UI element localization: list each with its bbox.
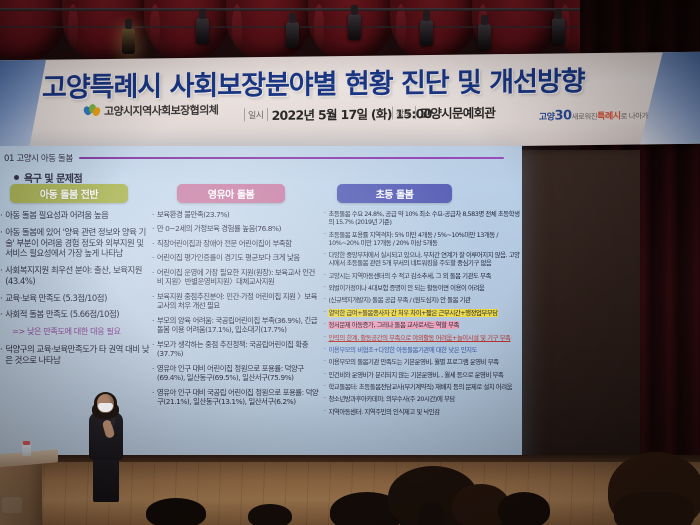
stage-light-icon [122, 28, 135, 54]
column-elementary-care: ·초등돌봄 수요 24.8%, 공급 약 10% 최소 수요-공급차 8,583… [324, 210, 520, 420]
list-item: ·어린이집 운영에 가장 필요한 지원(원장): 보육교사 인건비 지원〉반별운… [152, 268, 320, 287]
list-item: ·초등돌봄 포용률 지역격차: 5% 미만 4개동 / 5%~10%미만 13개… [324, 231, 520, 247]
list-item: ·정서문제 아동증가, 그러나 돌봄 교사로서는 역할 부족 [324, 321, 520, 329]
stage-light-icon [196, 18, 209, 44]
stage-light-icon [478, 24, 491, 50]
list-item: ·청소년방과후아카데미: 의무수사(주 20시간)에 부담 [324, 395, 520, 403]
list-item: ·지역아동센터: 지역주민의 인식제고 및 낙인감 [324, 408, 520, 416]
list-item: ·보육환경 불만족(23.7%) [152, 210, 320, 219]
list-item: ·외벌이가정이나 4대보험 증명이 안 되는 활동이면 이용이 어려움 [324, 284, 520, 292]
organization-name: 고양시지역사회보장협의체 [104, 102, 218, 119]
audience-head [498, 492, 550, 525]
list-item: ·이용부모의 비협조+다양한 아동돌봄기관에 대한 낮은 인지도 [324, 346, 520, 354]
audience-head [146, 498, 206, 525]
slide-section-title: 욕구 및 문제점 [14, 170, 82, 185]
banner-title: 고양특례시 사회보장분야별 현황 진단 및 개선방향 [42, 58, 662, 105]
list-item: ·만 0~2세의 가정보육 경험률 높음(76.8%) [152, 224, 320, 233]
city-logo-number: 30 [554, 108, 571, 123]
list-item: ·이용부모의 돌봄기관 만족도는 기본운영비, 월별 프로그램 운영비 부족 [324, 358, 520, 366]
presentation-photo-scene: 고양특례시 사회보장분야별 현황 진단 및 개선방향 고양시지역사회보장협의체 … [0, 0, 700, 525]
column-header-overall: 아동 돌봄 전반 [10, 184, 128, 203]
list-item: ·열악한 급여+돌봄종사자 간 처우 차이+짧은 근무시간+행정업무부담 [324, 309, 520, 317]
section-label: 욕구 및 문제점 [24, 170, 82, 185]
list-item: ·영유아 인구 대비 국공립 어린이집 정원으로 포용률: 덕양구(21.1%)… [152, 388, 320, 407]
city-logo-main: 고양 [539, 113, 555, 123]
audience-head [248, 504, 292, 525]
list-item: ·사회복지지원 최우선 분야: 출산, 보육지원 (43.4%) [0, 265, 150, 287]
podium-emblem [2, 497, 22, 513]
list-item: ·고양시는 지역아동센터의 수 적고 감소추세, 그 외 돌봄 기관도 부족 [324, 272, 520, 280]
presenter-legs [93, 456, 119, 502]
column-header-infant: 영유아 돌봄 [177, 184, 285, 203]
list-item: ·다양한 중앙부처에서 실시되고 있으나, 부처간 연계가 잘 이루어지지 않음… [324, 251, 520, 267]
list-item: ·덕양구의 교육·보육만족도가 타 권역 대비 낮은 것으로 나타남 [0, 344, 150, 366]
column-overall-care: ·아동 돌봄 필요성과 어려움 높음 ·아동 돌봄에 있어 '양육 관련 정보와… [0, 210, 150, 372]
podium-body [0, 463, 42, 525]
list-item: ·보육지원 중점추진분야: 민간·가정 어린이집 지원 〉보육교사의 처우 개선… [152, 292, 320, 311]
list-item: ·부모가 생각하는 중점 추진정책: 국공립어린이집 확충(37.7%) [152, 340, 320, 359]
list-item: ·초등돌봄 수요 24.8%, 공급 약 10% 최소 수요-공급차 8,583… [324, 210, 520, 226]
list-item: ·인력의 한계, 활동공간의 부족으로 야외활동 어려움+놀이시설 및 기구 부… [324, 334, 520, 342]
stage-light-icon [552, 18, 565, 44]
podium [0, 452, 58, 525]
slide-kicker: 01 고양시 아동 돌봄 [4, 152, 73, 164]
banner-organization: 고양시지역사회보장협의체 [84, 102, 218, 120]
list-item: ·학교돌봄터: 초등돌봄전담교사(무기계약직) 재배치 등의 문제로 설치 어려… [324, 383, 520, 391]
projected-slide: 01 고양시 아동 돌봄 욕구 및 문제점 아동 돌봄 전반 영유아 돌봄 초등… [0, 146, 522, 470]
list-item: ·부모의 양육 어려움: 국공립어린이집 부족(36.9%), 긴급 돌봄 이용… [152, 316, 320, 335]
place-value: 고양시문예회관 [420, 102, 496, 122]
audience-head [608, 452, 700, 525]
slide-header-rule [79, 157, 504, 160]
list-item: ·직장어린이집과 장애아 전문 어린이집이 부족함 [152, 239, 320, 248]
banner-decoration-left [0, 60, 46, 153]
column-overall-note: => 낮은 만족도에 대한 대응 필요 [12, 325, 150, 337]
stage-light-icon [420, 20, 433, 46]
list-item: ·어린이집 평가인증률이 경기도 평균보다 크게 낮음 [152, 253, 320, 262]
event-banner: 고양특례시 사회보장분야별 현황 진단 및 개선방향 고양시지역사회보장협의체 … [0, 52, 700, 153]
wall-panel-outer [520, 150, 640, 480]
list-item: ·영유아 인구 대비 어린이집 정원으로 포용률: 덕양구(69.4%), 일산… [152, 364, 320, 383]
organization-logo-icon [84, 104, 99, 118]
city-logo-accent: 특례시 [597, 112, 620, 122]
slide-header: 01 고양시 아동 돌봄 [4, 152, 504, 164]
list-item: ·(신규택지개발지) 돌봄 공급 부족 / (원도심지) 안 돌봄 기관 [324, 296, 520, 304]
column-header-elementary: 초등 돌봄 [337, 184, 452, 203]
city-logo-small: 새로워진 [572, 112, 598, 121]
place-label: 장소 [392, 106, 416, 119]
city-brand-logo: 고양30새로워진특례시로 나아가 [539, 107, 648, 123]
presenter [84, 394, 128, 502]
banner-place-meta: 장소 고양시문예회관 [392, 102, 495, 122]
stage-light-icon [286, 22, 299, 48]
stage-light-icon [348, 14, 361, 40]
list-item: ·아동 돌봄 필요성과 어려움 높음 [0, 210, 150, 221]
date-label: 일시 [244, 108, 268, 121]
water-bottle [22, 444, 31, 456]
list-item: ·인건비와 운영비가 분리되지 않는 기본운영비, , 월세 등으로 운영비 부… [324, 371, 520, 379]
bullet-dot-icon [14, 175, 19, 180]
city-logo-tail: 로 나아가 [621, 111, 648, 120]
list-item: ·교육·보육 만족도 (5.3점/10점) [0, 293, 150, 304]
list-item: ·아동 돌봄에 있어 '양육 관련 정보와 양육 기술' 부분이 어려움 경험 … [0, 227, 150, 259]
column-infant-care: ·보육환경 불만족(23.7%) ·만 0~2세의 가정보육 경험률 높음(76… [152, 210, 320, 412]
list-item: ·사회적 돌봄 만족도 (5.66점/10점) [0, 309, 150, 320]
